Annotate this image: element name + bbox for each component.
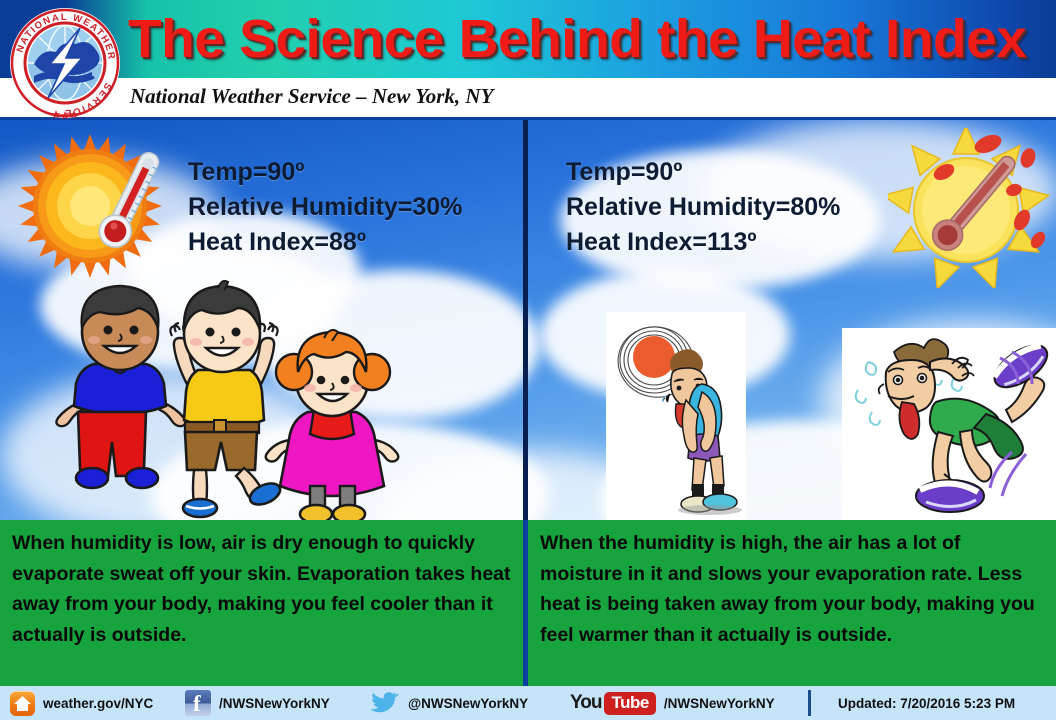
footer-item-twitter[interactable]: @NWSNewYorkNY: [370, 686, 528, 720]
footer-item-youtube[interactable]: You Tube /NWSNewYorkNY: [570, 686, 775, 720]
three-happy-kids-illustration: [22, 272, 422, 520]
heat-index-value: Heat Index=88º: [188, 225, 462, 260]
nws-logo: NATIONAL WEATHER SERVICE: [4, 2, 126, 120]
footer-updated: Updated: 7/20/2016 5:23 PM: [838, 686, 1015, 720]
footer-bar: weather.gov/NYC f /NWSNewYorkNY @NWSNewY…: [0, 686, 1056, 720]
readout-low-humidity: Temp=90º Relative Humidity=30% Heat Inde…: [188, 155, 462, 260]
temp-value: Temp=90º: [566, 155, 840, 190]
twitter-label: @NWSNewYorkNY: [408, 696, 528, 711]
humidity-value: Relative Humidity=30%: [188, 190, 462, 225]
youtube-wordmark-tube: Tube: [604, 692, 655, 715]
facebook-icon: f: [185, 690, 211, 716]
panel-divider: [523, 120, 528, 520]
updated-label: Updated: 7/20/2016 5:23 PM: [838, 696, 1015, 711]
temp-value: Temp=90º: [188, 155, 462, 190]
home-icon: [10, 691, 35, 716]
readout-high-humidity: Temp=90º Relative Humidity=80% Heat Inde…: [566, 155, 840, 260]
twitter-icon: [370, 691, 400, 715]
office-name: National Weather Service – New York, NY: [130, 84, 493, 109]
footer-divider: [808, 690, 811, 716]
subtitle-bar: National Weather Service – New York, NY: [0, 78, 1056, 120]
infographic-poster: The Science Behind the Heat Index Nation…: [0, 0, 1056, 720]
humidity-value: Relative Humidity=80%: [566, 190, 840, 225]
facebook-label: /NWSNewYorkNY: [219, 696, 330, 711]
heat-index-value: Heat Index=113º: [566, 225, 840, 260]
explanation-low-humidity: When humidity is low, air is dry enough …: [0, 520, 523, 686]
exhausted-man-under-sun-illustration: [606, 312, 746, 520]
website-label: weather.gov/NYC: [43, 696, 153, 711]
exhausted-runner-illustration: [842, 328, 1056, 520]
kid-blue: [56, 286, 185, 488]
panel-high-humidity: Temp=90º Relative Humidity=80% Heat Inde…: [528, 120, 1056, 520]
main-sky-area: Temp=90º Relative Humidity=30% Heat Inde…: [0, 120, 1056, 520]
youtube-wordmark-you: You: [570, 692, 601, 714]
sweating-sun-thermometer-icon: [888, 128, 1056, 288]
kid-yellow: [170, 281, 283, 517]
youtube-label: /NWSNewYorkNY: [664, 696, 775, 711]
youtube-icon: You Tube: [570, 692, 656, 715]
page-title: The Science Behind the Heat Index: [128, 2, 1056, 76]
explanation-high-humidity: When the humidity is high, the air has a…: [528, 520, 1056, 686]
panel-low-humidity: Temp=90º Relative Humidity=30% Heat Inde…: [0, 120, 523, 520]
sun-thermometer-icon: [18, 134, 178, 279]
kid-orange: [266, 330, 399, 520]
footer-item-facebook[interactable]: f /NWSNewYorkNY: [185, 686, 330, 720]
footer-item-website[interactable]: weather.gov/NYC: [10, 686, 153, 720]
header-bar: The Science Behind the Heat Index: [0, 0, 1056, 78]
